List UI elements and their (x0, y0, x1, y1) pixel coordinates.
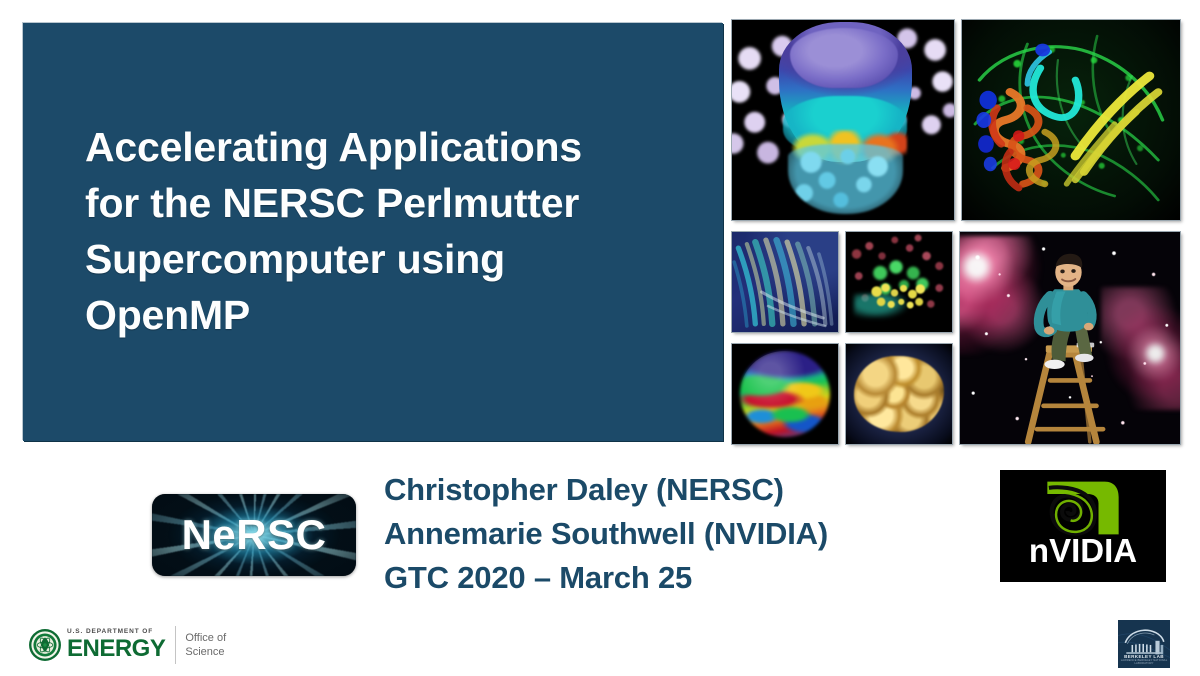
protein-image-art (962, 20, 1180, 220)
nvidia-eye-icon (1044, 477, 1122, 539)
molecular-yellow-particles (871, 282, 926, 314)
nebula-image-art (960, 232, 1180, 444)
doe-seal-icon (28, 628, 62, 662)
title-panel: Accelerating Applications for the NERSC … (23, 23, 723, 441)
office-of-science-label: Office of Science (185, 631, 226, 659)
combustion-plume-visualization-image (732, 20, 954, 220)
combustion-image-art (732, 20, 954, 220)
combustion-core-highlight (790, 28, 899, 88)
doe-wordmark: U.S. DEPARTMENT OF ENERGY (67, 629, 165, 661)
flow-image-art (732, 232, 838, 332)
berkeley-lab-logo[interactable]: BERKELEY LAB LAWRENCE BERKELEY NATIONAL … (1118, 620, 1170, 668)
flow-streaks-svg (732, 232, 838, 332)
presentation-slide: Accelerating Applications for the NERSC … (0, 0, 1200, 676)
cellular-mass (854, 356, 943, 432)
cellular-image-art (846, 344, 952, 444)
researcher-on-ladder-svg (960, 232, 1180, 444)
stepladder (1028, 351, 1103, 442)
doe-agency-name: ENERGY (67, 637, 165, 661)
protein-ribbon-svg (962, 20, 1180, 220)
doe-divider (175, 626, 176, 664)
cellular-structure-visualization-image (846, 344, 952, 444)
protein-structure-visualization-image (962, 20, 1180, 220)
plasma-flow-visualization-image (732, 232, 838, 332)
doe-logo: U.S. DEPARTMENT OF ENERGY Office of Scie… (28, 622, 226, 668)
berkeley-lab-subtitle: LAWRENCE BERKELEY NATIONAL LABORATORY (1118, 659, 1170, 665)
authors-and-event-text: Christopher Daley (NERSC) Annemarie Sout… (384, 468, 984, 600)
nvidia-logo[interactable]: nVIDIA (1000, 470, 1166, 582)
climate-image-art (732, 344, 838, 444)
climate-globe-highlight (740, 351, 829, 437)
molecular-dynamics-visualization-image (846, 232, 952, 332)
climate-globe-visualization-image (732, 344, 838, 444)
combustion-base-plume (788, 144, 903, 214)
slide-title: Accelerating Applications for the NERSC … (85, 119, 705, 343)
nersc-wordmark: NeRSC (152, 494, 356, 576)
nvidia-wordmark: nVIDIA (1000, 532, 1166, 570)
nersc-logo[interactable]: NeRSC (152, 494, 356, 576)
molecular-image-art (846, 232, 952, 332)
image-collage (732, 20, 1180, 448)
astrophysics-researcher-photo (960, 232, 1180, 444)
